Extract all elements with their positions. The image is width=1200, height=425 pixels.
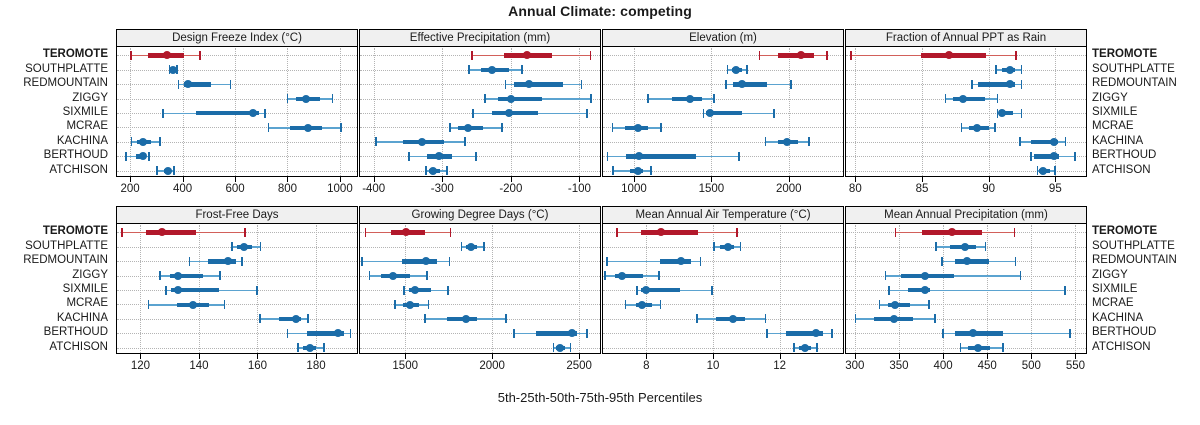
row-label-mcrae: MCRAE: [66, 119, 108, 133]
tick-mark: [140, 354, 141, 359]
whisker-cap-high: [224, 300, 226, 309]
median-point: [462, 315, 470, 323]
whisker-cap-low: [945, 94, 947, 103]
row-label-berthoud: BERTHOUD: [1092, 325, 1156, 339]
tick-label: 2500: [566, 360, 592, 372]
percentile-interval: [117, 284, 357, 297]
tick-label: 500: [1022, 360, 1041, 372]
tick-mark: [442, 177, 443, 182]
row-label-redmountain: REDMOUNTAIN: [23, 253, 108, 267]
median-point: [1006, 80, 1014, 88]
median-point: [304, 124, 312, 132]
whisker-cap-high: [264, 109, 266, 118]
whisker-cap-low: [131, 137, 133, 146]
whisker-cap-low: [612, 123, 614, 132]
whisker-cap-low: [703, 109, 705, 118]
whisker-cap-low: [231, 242, 233, 251]
whisker-cap-low: [162, 109, 164, 118]
percentile-interval: [846, 226, 1086, 239]
tick-mark: [1055, 177, 1056, 182]
panel-title: Mean Annual Precipitation (mm): [846, 207, 1086, 224]
percentile-interval: [846, 150, 1086, 163]
row-label-sixmile: SIXMILE: [63, 282, 108, 296]
row-label-kachina: KACHINA: [1092, 134, 1143, 148]
whisker-cap-low: [625, 300, 627, 309]
whisker-cap-high: [1021, 65, 1023, 74]
whisker-cap-low: [607, 152, 609, 161]
whisker-cap-high: [650, 166, 652, 175]
whisker-cap-high: [219, 271, 221, 280]
row-label-mcrae: MCRAE: [66, 296, 108, 310]
interquartile-box: [514, 82, 563, 86]
tick-label: 1500: [392, 360, 418, 372]
tick-label: 800: [278, 183, 297, 195]
x-axis: 81012: [603, 354, 843, 376]
whisker-cap-low: [156, 166, 158, 175]
whisker-cap-high: [1064, 286, 1066, 295]
percentile-interval: [360, 135, 600, 148]
percentile-interval: [846, 312, 1086, 325]
whisker-cap-low: [765, 137, 767, 146]
tick-label: 550: [1066, 360, 1085, 372]
median-point: [729, 315, 737, 323]
whisker-cap-low: [287, 329, 289, 338]
panel-fraction-of-annual-ppt-as-rain: Fraction of Annual PPT as Rain: [845, 29, 1087, 177]
percentile-interval: [360, 164, 600, 176]
row-label-ziggy: ZIGGY: [72, 91, 108, 105]
panel-mean-annual-precipitation-mm: Mean Annual Precipitation (mm): [845, 206, 1087, 354]
tick-mark: [199, 354, 200, 359]
percentile-interval: [846, 49, 1086, 62]
whisker-cap-low: [472, 109, 474, 118]
tick-label: 1000: [621, 183, 647, 195]
percentile-interval: [117, 63, 357, 76]
median-point: [642, 286, 650, 294]
tick-mark: [1031, 354, 1032, 359]
percentile-interval: [603, 49, 843, 62]
panel-elevation-m: Elevation (m): [602, 29, 844, 177]
percentile-interval: [117, 298, 357, 311]
percentile-interval: [846, 298, 1086, 311]
whisker-cap-low: [553, 343, 555, 352]
whisker-cap-low: [935, 242, 937, 251]
percentile-interval: [117, 92, 357, 105]
row-label-mcrae: MCRAE: [1092, 296, 1134, 310]
median-point: [402, 228, 410, 236]
interquartile-box: [778, 53, 814, 57]
median-point: [635, 152, 643, 160]
median-point: [240, 243, 248, 251]
interquartile-box: [402, 259, 437, 263]
row-label-southplatte: SOUTHPLATTE: [25, 62, 108, 76]
whisker-cap-low: [759, 51, 761, 60]
row-label-atchison: ATCHISON: [49, 163, 108, 177]
row-label-ziggy: ZIGGY: [1092, 91, 1128, 105]
tick-label: 1500: [699, 183, 725, 195]
whisker-cap-low: [287, 94, 289, 103]
panel-effective-precipitation-mm: Effective Precipitation (mm): [359, 29, 601, 177]
whisker-cap-low: [189, 257, 191, 266]
whisker-cap-high: [148, 152, 150, 161]
whisker-cap-high: [590, 51, 592, 60]
axis-caption: 5th-25th-50th-75th-95th Percentiles: [0, 390, 1200, 405]
whisker-cap-high: [332, 94, 334, 103]
median-point: [638, 301, 646, 309]
median-point: [568, 329, 576, 337]
row-label-southplatte: SOUTHPLATTE: [1092, 62, 1175, 76]
whisker-cap-low: [971, 80, 973, 89]
panel-title: Elevation (m): [603, 30, 843, 47]
tick-mark: [987, 354, 988, 359]
tick-label: 2000: [776, 183, 802, 195]
tick-label: 12: [773, 360, 786, 372]
whisker-cap-high: [711, 286, 713, 295]
tick-mark: [405, 354, 406, 359]
row-label-berthoud: BERTHOUD: [1092, 148, 1156, 162]
tick-mark: [899, 354, 900, 359]
row-label-sixmile: SIXMILE: [1092, 282, 1137, 296]
median-point: [411, 286, 419, 294]
median-point: [302, 95, 310, 103]
row-label-berthoud: BERTHOUD: [44, 148, 108, 162]
tick-label: 10: [707, 360, 720, 372]
median-point: [334, 329, 342, 337]
median-point: [169, 66, 177, 74]
percentile-interval: [117, 240, 357, 253]
tick-label: 400: [173, 183, 192, 195]
whisker-cap-low: [941, 257, 943, 266]
whisker-cap-high: [660, 300, 662, 309]
median-point: [406, 301, 414, 309]
tick-mark: [579, 354, 580, 359]
tick-label: 80: [849, 183, 862, 195]
whisker-cap-low: [513, 329, 515, 338]
whisker-cap-low: [394, 300, 396, 309]
whisker-cap-low: [960, 343, 962, 352]
percentile-interval: [117, 312, 357, 325]
percentile-interval: [603, 255, 843, 268]
median-point: [184, 80, 192, 88]
whisker-cap-low: [461, 242, 463, 251]
percentile-interval: [360, 284, 600, 297]
whisker-cap-high: [1021, 80, 1023, 89]
median-point: [732, 66, 740, 74]
percentile-interval: [603, 298, 843, 311]
whisker-cap-high: [934, 314, 936, 323]
tick-mark: [340, 177, 341, 182]
whisker-cap-high: [1014, 228, 1016, 237]
tick-mark: [374, 177, 375, 182]
percentile-interval: [117, 164, 357, 176]
whisker-cap-high: [985, 242, 987, 251]
percentile-interval: [117, 150, 357, 163]
percentile-interval: [846, 255, 1086, 268]
panel-title: Mean Annual Air Temperature (°C): [603, 207, 843, 224]
tick-mark: [922, 177, 923, 182]
whisker-cap-low: [268, 123, 270, 132]
percentile-interval: [603, 269, 843, 282]
whisker-cap-high: [450, 228, 452, 237]
interquartile-box: [641, 230, 698, 234]
percentile-interval: [360, 269, 600, 282]
whisker-cap-low: [425, 166, 427, 175]
percentile-interval: [846, 63, 1086, 76]
row-label-redmountain: REDMOUNTAIN: [1092, 76, 1177, 90]
whisker-cap-high: [260, 242, 262, 251]
tick-mark: [711, 177, 712, 182]
whisker-cap-high: [765, 314, 767, 323]
whisker-cap-high: [159, 137, 161, 146]
whisker-cap-high: [323, 343, 325, 352]
median-point: [1050, 152, 1058, 160]
row-label-ziggy: ZIGGY: [1092, 268, 1128, 282]
median-point: [464, 124, 472, 132]
whisker-cap-low: [484, 94, 486, 103]
whisker-cap-high: [307, 314, 309, 323]
whisker-cap-high: [808, 137, 810, 146]
percentile-interval: [360, 150, 600, 163]
whisker-cap-low: [125, 152, 127, 161]
whisker-cap-high: [1020, 271, 1022, 280]
percentile-interval: [360, 312, 600, 325]
percentile-interval: [846, 341, 1086, 353]
median-point: [422, 257, 430, 265]
tick-mark: [130, 177, 131, 182]
tick-label: 450: [978, 360, 997, 372]
tick-mark: [789, 177, 790, 182]
row-label-southplatte: SOUTHPLATTE: [1092, 239, 1175, 253]
whisker-cap-high: [521, 65, 523, 74]
whisker-cap-high: [586, 329, 588, 338]
tick-label: 1000: [327, 183, 353, 195]
row-label-sixmile: SIXMILE: [1092, 105, 1137, 119]
median-point: [677, 257, 685, 265]
whisker-cap-low: [361, 257, 363, 266]
median-point: [724, 243, 732, 251]
interquartile-box: [498, 97, 542, 101]
median-point: [189, 301, 197, 309]
median-point: [467, 243, 475, 251]
median-point: [429, 167, 437, 175]
interquartile-box: [953, 97, 985, 101]
tick-label: -300: [431, 183, 454, 195]
tick-mark: [316, 354, 317, 359]
tick-mark: [257, 354, 258, 359]
row-label-atchison: ATCHISON: [1092, 340, 1151, 354]
whisker-cap-low: [995, 65, 997, 74]
median-point: [163, 51, 171, 59]
whisker-cap-low: [1030, 152, 1032, 161]
whisker-cap-high: [350, 329, 352, 338]
whisker-cap-high: [483, 242, 485, 251]
panel-title: Frost-Free Days: [117, 207, 357, 224]
percentile-interval: [360, 240, 600, 253]
tick-mark: [492, 354, 493, 359]
interquartile-box: [921, 53, 986, 57]
whisker-cap-high: [1074, 152, 1076, 161]
tick-mark: [713, 354, 714, 359]
whisker-cap-low: [604, 271, 606, 280]
percentile-interval: [360, 92, 600, 105]
median-point: [812, 329, 820, 337]
row-label-atchison: ATCHISON: [1092, 163, 1151, 177]
tick-label: 85: [916, 183, 929, 195]
whisker-cap-high: [740, 242, 742, 251]
whisker-cap-low: [159, 271, 161, 280]
row-label-ziggy: ZIGGY: [72, 268, 108, 282]
median-point: [507, 95, 515, 103]
row-label-redmountain: REDMOUNTAIN: [1092, 253, 1177, 267]
tick-mark: [511, 177, 512, 182]
percentile-interval: [603, 63, 843, 76]
whisker-cap-high: [994, 123, 996, 132]
plot-area: [846, 225, 1086, 353]
whisker-cap-high: [256, 286, 258, 295]
median-point: [634, 124, 642, 132]
tick-mark: [235, 177, 236, 182]
median-point: [948, 228, 956, 236]
whisker-cap-high: [1065, 137, 1067, 146]
whisker-cap-low: [793, 343, 795, 352]
median-point: [921, 272, 929, 280]
row-label-teromote: TEROMOTE: [43, 224, 108, 238]
whisker-cap-high: [997, 94, 999, 103]
tick-label: 400: [933, 360, 952, 372]
percentile-interval: [846, 92, 1086, 105]
whisker-cap-low: [148, 300, 150, 309]
row-label-sixmile: SIXMILE: [63, 105, 108, 119]
tick-label: -400: [362, 183, 385, 195]
whisker-cap-high: [230, 80, 232, 89]
whisker-cap-low: [468, 65, 470, 74]
whisker-cap-high: [1015, 257, 1017, 266]
row-label-southplatte: SOUTHPLATTE: [25, 239, 108, 253]
panel-mean-annual-air-temperature-c: Mean Annual Air Temperature (°C): [602, 206, 844, 354]
whisker-cap-low: [725, 80, 727, 89]
plot-area: [360, 48, 600, 176]
plot-area: [603, 225, 843, 353]
percentile-interval: [846, 164, 1086, 176]
tick-label: 120: [131, 360, 150, 372]
median-point: [686, 95, 694, 103]
median-point: [801, 344, 809, 352]
x-axis: 150020002500: [360, 354, 600, 376]
percentile-interval: [603, 78, 843, 91]
whisker-cap-low: [850, 51, 852, 60]
percentile-interval: [603, 135, 843, 148]
tick-mark: [287, 177, 288, 182]
whisker-cap-low: [369, 271, 371, 280]
whisker-cap-high: [738, 152, 740, 161]
tick-label: 2000: [479, 360, 505, 372]
interquartile-box: [146, 230, 196, 234]
whisker-cap-low: [606, 257, 608, 266]
percentile-interval: [846, 78, 1086, 91]
page-title: Annual Climate: competing: [0, 3, 1200, 19]
median-point: [783, 138, 791, 146]
row-label-kachina: KACHINA: [1092, 311, 1143, 325]
percentile-interval: [360, 298, 600, 311]
tick-mark: [646, 354, 647, 359]
percentile-interval: [846, 107, 1086, 120]
row-label-berthoud: BERTHOUD: [44, 325, 108, 339]
interquartile-box: [955, 259, 989, 263]
tick-label: -100: [568, 183, 591, 195]
plot-area: [603, 48, 843, 176]
whisker-cap-low: [121, 228, 123, 237]
whisker-cap-high: [746, 65, 748, 74]
whisker-cap-high: [1002, 343, 1004, 352]
x-axis: 100015002000: [603, 177, 843, 199]
percentile-interval: [846, 121, 1086, 134]
whisker-cap-low: [612, 166, 614, 175]
row-label-kachina: KACHINA: [57, 134, 108, 148]
whisker-cap-low: [375, 137, 377, 146]
median-point: [249, 109, 257, 117]
tick-label: 350: [889, 360, 908, 372]
median-point: [921, 286, 929, 294]
percentile-interval: [117, 121, 357, 134]
whisker-cap-high: [446, 166, 448, 175]
whisker-cap-low: [616, 228, 618, 237]
percentile-interval: [117, 255, 357, 268]
percentile-interval: [603, 240, 843, 253]
tick-label: 95: [1049, 183, 1062, 195]
whisker-cap-high: [199, 51, 201, 60]
median-point: [306, 344, 314, 352]
whisker-cap-low: [1037, 166, 1039, 175]
whisker-cap-low: [727, 65, 729, 74]
median-point: [890, 315, 898, 323]
tick-label: 600: [225, 183, 244, 195]
median-point: [292, 315, 300, 323]
whisker-cap-high: [173, 166, 175, 175]
median-point: [505, 109, 513, 117]
row-label-teromote: TEROMOTE: [43, 47, 108, 61]
whisker-cap-low: [449, 123, 451, 132]
median-point: [389, 272, 397, 280]
whisker-cap-low: [259, 314, 261, 323]
median-point: [174, 286, 182, 294]
whisker-cap-low: [885, 271, 887, 280]
whisker-cap-low: [696, 314, 698, 323]
whisker-cap-high: [713, 94, 715, 103]
percentile-interval: [117, 341, 357, 353]
whisker-cap-high: [475, 152, 477, 161]
tick-mark: [780, 354, 781, 359]
whisker-cap-high: [586, 109, 588, 118]
percentile-interval: [117, 226, 357, 239]
percentile-interval: [603, 150, 843, 163]
panel-title: Growing Degree Days (°C): [360, 207, 600, 224]
tick-mark: [634, 177, 635, 182]
tick-label: 200: [121, 183, 140, 195]
whisker-cap-high: [590, 94, 592, 103]
whisker-cap-low: [403, 286, 405, 295]
median-point: [961, 243, 969, 251]
percentile-interval: [117, 327, 357, 340]
interquartile-box: [492, 111, 538, 115]
median-point: [706, 109, 714, 117]
median-point: [1006, 66, 1014, 74]
plot-area: [360, 225, 600, 353]
percentile-interval: [117, 49, 357, 62]
median-point: [618, 272, 626, 280]
percentile-interval: [603, 341, 843, 353]
median-point: [634, 167, 642, 175]
whisker-cap-low: [713, 242, 715, 251]
whisker-cap-low: [178, 80, 180, 89]
